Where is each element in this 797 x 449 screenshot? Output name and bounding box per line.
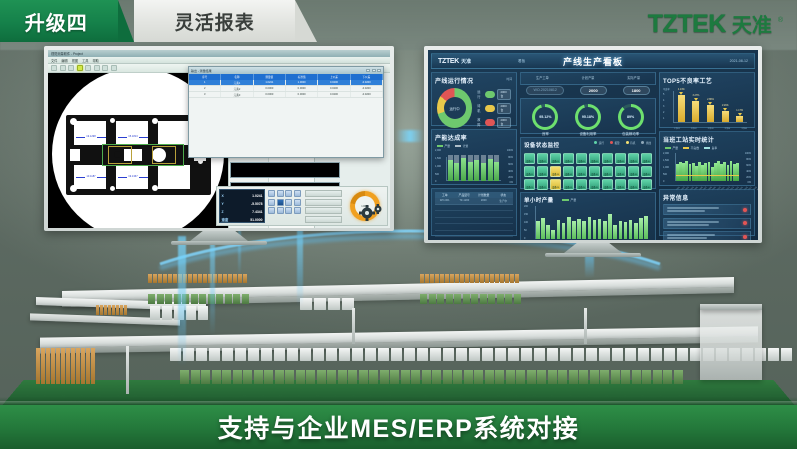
equipment-cell[interactable]: 设备30 xyxy=(641,179,652,190)
caption-banner: 支持与企业MES/ERP系统对接 xyxy=(0,405,797,449)
legend-label: 产量 xyxy=(571,198,577,202)
part-pocket xyxy=(116,121,148,145)
legend-swatch-fault xyxy=(485,119,496,126)
preview-strip-top xyxy=(230,162,340,178)
menu-view[interactable]: 视图 xyxy=(72,58,78,63)
kpi-workorder-value: WO-20210812 xyxy=(526,86,563,95)
bar-value-label: 2.86% xyxy=(707,98,714,101)
equipment-grid: 设备01 设备02 设备03 设备04 设备05 设备06 设备07 设备08 … xyxy=(524,151,652,190)
bar-group xyxy=(461,155,466,181)
menu-tools[interactable]: 工具 xyxy=(82,58,88,63)
part-pocket xyxy=(158,165,190,189)
left-monitor: 视觉测量软件 - Project 文件 编辑 视图 工具 帮助 xyxy=(44,46,394,245)
text-line xyxy=(667,207,719,209)
legend-entry-defect: 不良数 xyxy=(683,146,699,150)
marker-icon xyxy=(679,92,683,95)
cell: 1 xyxy=(189,80,221,85)
gauge-ring: 89% xyxy=(618,104,644,130)
bar: 3.27% xyxy=(692,101,699,122)
y-tick: 0 xyxy=(663,180,664,183)
part-hole xyxy=(110,186,115,191)
legend-dot xyxy=(641,141,644,144)
legend-entry-alarm: 报警 xyxy=(610,141,620,145)
menu-edit[interactable]: 编辑 xyxy=(61,58,67,63)
marker-icon xyxy=(738,113,742,116)
bar-group xyxy=(488,155,493,181)
line-status-title: 产线运行情况 xyxy=(435,76,513,85)
jog-settings-icon[interactable] xyxy=(294,190,301,197)
equipment-cell[interactable]: 设备19 xyxy=(628,166,639,177)
lower-machine-row xyxy=(180,370,683,384)
equipment-cell[interactable]: 设备20 xyxy=(641,166,652,177)
table-row[interactable]: 3 元素3 0.0000 0.0000 0.0200 -0.0200 xyxy=(189,92,383,98)
legend-swatch-run xyxy=(485,91,496,98)
equipment-cell[interactable]: 设备21 xyxy=(524,179,535,190)
right-monitor-stand xyxy=(564,243,622,253)
dashboard-left-tab[interactable]: 看板 xyxy=(518,59,525,64)
left-monitor-bezel: 视觉测量软件 - Project 文件 编辑 视图 工具 帮助 xyxy=(44,46,394,231)
coordinate-row: X 1.0241 xyxy=(222,192,263,200)
equipment-cell[interactable]: 设备12 xyxy=(537,166,548,177)
y-tick-right: 0% xyxy=(510,181,513,184)
alarm-status-dot xyxy=(743,235,747,239)
menu-help[interactable]: 帮助 xyxy=(93,58,99,63)
x-tick: 工序02 xyxy=(691,127,697,130)
legend-count: 2000台 xyxy=(497,89,511,100)
legend-label: 待机 xyxy=(630,141,635,145)
brand-registered-mark: ® xyxy=(778,17,783,24)
support-column xyxy=(126,346,129,394)
coordinate-row: 速度 51.0000 xyxy=(222,216,263,224)
roi-subregion[interactable] xyxy=(152,146,176,164)
vision-software-screen: 视觉测量软件 - Project 文件 编辑 视图 工具 帮助 xyxy=(48,50,390,228)
dashboard-datetime: 2021-08-12 xyxy=(730,59,748,63)
gauges-card: 95.12% 良率 95.18% 设备利用率 xyxy=(520,98,656,134)
quick-action-buttons xyxy=(305,189,342,223)
axis-value: 51.0000 xyxy=(250,218,262,222)
top5-title: TOP5不良率工艺 xyxy=(663,76,751,85)
cell: 0.0200 xyxy=(318,80,350,85)
legend-entry-actual: 产量 xyxy=(437,144,450,148)
bar: 4.13% xyxy=(678,95,685,122)
dashboard-title: 产线生产看板 xyxy=(432,55,754,68)
text-line xyxy=(667,221,719,223)
equipment-cell[interactable]: 设备22 xyxy=(537,179,548,190)
bar xyxy=(541,218,545,239)
bar xyxy=(624,222,628,239)
text-line xyxy=(667,210,705,212)
equipment-cell[interactable]: 设备24 xyxy=(563,179,574,190)
jog-down-right-icon[interactable] xyxy=(285,207,292,214)
dashboard-logo-cn: 天准 xyxy=(461,58,471,65)
equipment-cell[interactable]: 设备17 xyxy=(602,166,613,177)
legend-swatch xyxy=(683,147,689,150)
y-tick: 150 xyxy=(524,213,528,216)
cell: 1.0000 xyxy=(286,80,318,85)
cell: 2 xyxy=(189,86,221,91)
legend-label: 产量 xyxy=(445,144,451,148)
y-tick: 2 xyxy=(663,111,664,114)
gauge-value: 95.18% xyxy=(578,107,598,127)
jog-home-icon[interactable] xyxy=(277,199,284,206)
capacity-title: 产能达成率 xyxy=(435,133,513,142)
coordinate-row: Y -5.5078 xyxy=(222,200,263,208)
bar xyxy=(593,220,597,239)
dashboard-header: TZTEK 天准 看板 产线生产看板 2021-08-12 xyxy=(431,53,755,69)
legend-row: 运行 2000台 xyxy=(477,89,511,100)
top5-y-label: 不良率 xyxy=(663,87,670,91)
jog-right-icon[interactable] xyxy=(285,199,292,206)
equipment-cell[interactable]: 设备02 xyxy=(537,153,548,164)
equipment-cell[interactable]: 设备10 xyxy=(641,153,652,164)
y-tick: 2,000 xyxy=(435,149,441,152)
cursor-icon[interactable] xyxy=(51,65,57,71)
bar xyxy=(639,218,643,239)
vision-app-title: 视觉测量软件 - Project xyxy=(51,51,83,56)
y-tick-right: 20% xyxy=(508,176,513,179)
y-tick-right: 80% xyxy=(508,156,513,159)
exception-row[interactable] xyxy=(663,218,751,229)
factory-right-wing-top xyxy=(700,304,762,310)
top5-chart: 不良率 5 4 3 2 1 4.13% 3.27% xyxy=(663,87,751,131)
legend-label: 计划 xyxy=(463,144,469,148)
hourly-bars xyxy=(536,213,648,239)
legend-row: 待机 2000台 xyxy=(477,103,511,114)
roi-subregion[interactable] xyxy=(108,146,132,164)
dashboard-right-column: TOP5不良率工艺 不良率 5 4 3 2 1 xyxy=(659,72,755,236)
exception-text xyxy=(667,207,719,212)
bar xyxy=(551,230,555,239)
legend-row: 故障 2000台 xyxy=(477,117,511,128)
y-tick: 1,500 xyxy=(435,157,441,160)
y-tick-right: 60% xyxy=(508,163,513,166)
gauges-row: 95.12% 良率 95.18% 设备利用率 xyxy=(524,102,652,138)
jog-up-right-icon[interactable] xyxy=(285,190,292,197)
y-tick: 1,000 xyxy=(435,165,441,168)
equipment-cell[interactable]: 设备23 xyxy=(550,179,561,190)
part-hole xyxy=(110,118,115,123)
legend-count: 2000台 xyxy=(497,103,511,114)
kpi-workorder: 生产工单 xyxy=(536,75,549,82)
y-tick: 500 xyxy=(663,173,667,176)
station-chart: 2,000 1,500 1,000 500 0 100% 80% 60% 40%… xyxy=(663,151,751,191)
bar xyxy=(619,221,623,239)
station-bars xyxy=(676,161,739,181)
part-hole xyxy=(152,118,158,124)
y-tick-right: 80% xyxy=(746,158,751,161)
legend-swatch xyxy=(704,147,710,150)
equipment-cell[interactable]: 设备04 xyxy=(563,153,574,164)
equipment-cell[interactable]: 设备16 xyxy=(589,166,600,177)
table-row[interactable] xyxy=(435,231,513,238)
equipment-cell[interactable]: 设备08 xyxy=(615,153,626,164)
hourly-chart: 200 150 100 50 0 xyxy=(524,204,652,241)
action-button-2[interactable] xyxy=(305,199,342,206)
dimension-value: 19.1367 xyxy=(127,175,138,178)
factory-data-beam xyxy=(210,236,215,336)
y-tick: 50 xyxy=(524,229,527,232)
header-section: 灵活报表 xyxy=(134,0,295,42)
brand-logo-en: TZTEK xyxy=(648,10,726,39)
legend-swatch xyxy=(562,199,569,201)
y-tick: 1,000 xyxy=(663,166,669,169)
alarm-status-dot xyxy=(743,208,747,212)
bar-group xyxy=(468,155,473,181)
cell: 0.0000 xyxy=(286,86,318,91)
bar-group xyxy=(481,155,486,181)
part-hole xyxy=(70,185,77,192)
equipment-cell[interactable]: 设备28 xyxy=(615,179,626,190)
line-status-content: 运行中 运行 2000台 待机 xyxy=(435,87,513,129)
window-controls xyxy=(366,69,381,73)
axis-label: Y xyxy=(222,202,224,206)
action-button-1[interactable] xyxy=(305,190,342,197)
dimension-line: 19.1367 xyxy=(118,177,148,178)
brand-logo: TZTEK 天准 ® xyxy=(648,9,783,39)
axis-value: 7.4341 xyxy=(252,210,262,214)
bar xyxy=(536,221,540,239)
text-line xyxy=(667,224,709,226)
dimension-line: 19.1298 xyxy=(76,137,106,138)
bar xyxy=(588,217,592,239)
cell: 元素2 xyxy=(221,86,253,91)
equipment-cell[interactable]: 设备06 xyxy=(589,153,600,164)
legend-label: 离线 xyxy=(646,141,651,145)
legend-entry-output: 产量 xyxy=(665,146,678,150)
dimension-line: 13.1187 xyxy=(76,177,106,178)
bar-value-label: 3.27% xyxy=(693,94,700,97)
legend-entry-idle: 待机 xyxy=(626,141,636,145)
equipment-cell[interactable]: 设备18 xyxy=(615,166,626,177)
maximize-icon[interactable] xyxy=(372,69,376,73)
bar xyxy=(557,220,561,239)
cell: WO-001 xyxy=(435,198,455,204)
legend-dot xyxy=(610,141,613,144)
gear-icon xyxy=(356,202,386,224)
bar xyxy=(577,219,581,239)
equipment-cell[interactable]: 设备27 xyxy=(602,179,613,190)
equipment-legend: 运行 报警 待机 离线 xyxy=(594,141,651,145)
x-tick: 工序03 xyxy=(708,127,714,130)
legend-label: 不良数 xyxy=(691,146,699,150)
gauge-utilization: 95.18% 设备利用率 xyxy=(575,104,601,137)
top5-bars: 4.13% 3.27% 2.86% 1.93% 1.17% xyxy=(674,97,747,122)
part-hole xyxy=(70,118,77,125)
kpi-actual: 实际产量 xyxy=(627,75,640,82)
dimension-value: 15.1813 xyxy=(127,135,138,138)
right-monitor-base xyxy=(545,253,641,257)
kpi-actual-value: 1800 xyxy=(623,86,650,95)
support-column xyxy=(584,308,587,344)
header-tag-label: 升级四 xyxy=(25,7,88,36)
marker-icon xyxy=(694,98,698,101)
bar xyxy=(598,219,602,239)
zoom-icon[interactable] xyxy=(60,65,66,71)
axis-label: Z xyxy=(222,210,224,214)
settings-icon[interactable] xyxy=(111,65,117,71)
bar-group xyxy=(454,155,459,181)
jog-up-left-icon[interactable] xyxy=(268,190,275,197)
factory-data-beam xyxy=(178,236,186,366)
mid-equipment-row-2 xyxy=(170,348,792,361)
jog-up-icon[interactable] xyxy=(277,190,284,197)
cell: -0.0200 xyxy=(351,86,383,91)
part-hole xyxy=(198,159,203,164)
legend-entry-run: 运行 xyxy=(594,141,604,145)
bar-group xyxy=(474,155,479,181)
equipment-cell[interactable]: 设备14 xyxy=(563,166,574,177)
gauge-ring: 95.12% xyxy=(532,104,558,130)
result-window-titlebar: 输出 - 测量结果 xyxy=(189,67,383,74)
material-rack xyxy=(96,305,127,315)
legend-dot xyxy=(594,141,597,144)
equipment-cell[interactable]: 设备01 xyxy=(524,153,535,164)
bar xyxy=(644,216,648,239)
result-window-title: 输出 - 测量结果 xyxy=(191,69,212,73)
gauge-label: 良率 xyxy=(532,131,558,136)
bar-value-label: 4.13% xyxy=(678,88,685,91)
bar-group xyxy=(448,155,453,181)
legend-count: 2000台 xyxy=(497,117,511,128)
gauge-label: 包装稼动率 xyxy=(618,131,644,136)
gauge-label: 设备利用率 xyxy=(575,131,601,136)
dashboard-left-column: 产线运行情况 时间 运行中 运行 2000台 xyxy=(431,72,517,236)
hourly-legend: 产量 xyxy=(562,198,577,202)
exception-row[interactable] xyxy=(663,231,751,240)
bar xyxy=(582,221,586,239)
equipment-cell[interactable]: 设备13 xyxy=(550,166,561,177)
y-tick: 1,500 xyxy=(663,159,669,162)
dashboard-logo-en: TZTEK xyxy=(438,58,459,65)
y-tick: 200 xyxy=(524,205,528,208)
equipment-cell[interactable]: 设备15 xyxy=(576,166,587,177)
cell: 3 xyxy=(189,92,221,97)
equipment-cell[interactable]: 设备11 xyxy=(524,166,535,177)
equipment-cell[interactable]: 设备03 xyxy=(550,153,561,164)
jog-left-icon[interactable] xyxy=(268,199,275,206)
production-dashboard: TZTEK 天准 看板 产线生产看板 2021-08-12 产线运行情况 时间 xyxy=(428,50,758,240)
y-tick: 2,000 xyxy=(663,152,669,155)
vision-menubar: 文件 编辑 视图 工具 帮助 xyxy=(48,57,390,64)
cell: 0.0000 xyxy=(254,92,286,97)
jog-pad[interactable] xyxy=(268,189,302,223)
bar: 1.93% xyxy=(722,111,729,122)
donut-center-label: 运行中 xyxy=(444,97,466,119)
cell: -0.0200 xyxy=(351,80,383,85)
action-button-4[interactable] xyxy=(305,216,342,223)
kpi-values-row: WO-20210812 2000 1800 xyxy=(520,86,656,95)
circle-tool-icon[interactable] xyxy=(94,65,100,71)
y-tick: 0 xyxy=(435,180,436,183)
line-status-legend: 运行 2000台 待机 2000台 xyxy=(477,89,511,128)
jog-down-icon[interactable] xyxy=(277,207,284,214)
header-section-label: 灵活报表 xyxy=(175,8,255,35)
upper-equipment-row xyxy=(300,298,354,310)
measurement-result-window[interactable]: 输出 - 测量结果 序号 名称 测量值 标准值 上公差 下公差 1 xyxy=(188,66,384,158)
legend-swatch xyxy=(437,145,443,148)
axis-label: 速度 xyxy=(222,217,229,222)
line-status-time-header: 时间 xyxy=(506,77,512,81)
legend-label: 运行 xyxy=(599,141,604,145)
kpi-row: 生产工单 计划产量 实际产量 xyxy=(521,73,655,84)
bar xyxy=(603,221,607,239)
header-banner: 升级四 灵活报表 xyxy=(0,0,295,42)
gauge-ring: 95.18% xyxy=(575,104,601,130)
save-icon[interactable] xyxy=(102,65,108,71)
station-legend: 产量 不良数 良率 xyxy=(663,146,751,150)
equipment-cell[interactable]: 设备05 xyxy=(576,153,587,164)
bar: 1.17% xyxy=(736,116,743,122)
equipment-cell[interactable]: 设备29 xyxy=(628,179,639,190)
alarm-status-dot xyxy=(743,221,747,225)
part-hole xyxy=(152,185,158,191)
equipment-cell[interactable]: 设备25 xyxy=(576,179,587,190)
cell: 元素3 xyxy=(221,92,253,97)
exception-row[interactable] xyxy=(663,204,751,215)
axis-value: -5.5078 xyxy=(251,202,263,206)
dimension-value: 19.1298 xyxy=(85,135,96,138)
jog-play-icon[interactable] xyxy=(294,199,301,206)
equipment-cell[interactable]: 设备09 xyxy=(628,153,639,164)
cell: 0.0200 xyxy=(318,86,350,91)
gauge-packaging: 89% 包装稼动率 xyxy=(618,104,644,137)
brand-logo-cn: 天准 xyxy=(732,9,772,38)
order-table-card: 工单 产品型号 计划数量 状态 WO-001 TZ-1200 2000 生产中 xyxy=(431,188,517,236)
material-stack xyxy=(36,348,95,384)
capacity-card: 产能达成率 产量 计划 2,000 1,500 1,000 500 0 xyxy=(431,129,517,185)
dimension-line: 15.1813 xyxy=(118,137,148,138)
equipment-cell[interactable]: 设备26 xyxy=(589,179,600,190)
cell: 0.0200 xyxy=(318,92,350,97)
x-tick: 工序05 xyxy=(741,127,747,130)
menu-file[interactable]: 文件 xyxy=(51,58,57,63)
measure-icon[interactable] xyxy=(77,65,83,71)
legend-label: 待机 xyxy=(477,103,482,113)
marker-icon xyxy=(723,108,727,111)
header-tag: 升级四 xyxy=(0,0,118,42)
legend-entry-yield: 良率 xyxy=(704,146,717,150)
part-pocket xyxy=(158,121,190,145)
pan-icon[interactable] xyxy=(68,65,74,71)
line-tool-icon[interactable] xyxy=(85,65,91,71)
station-yield-line xyxy=(676,175,739,176)
minimize-icon[interactable] xyxy=(366,69,370,73)
cell: 0.0000 xyxy=(286,92,318,97)
action-button-3[interactable] xyxy=(305,207,342,214)
gauge-value: 89% xyxy=(621,107,641,127)
cell: TZ-1200 xyxy=(455,198,475,204)
dashboard-center-column: 生产工单 计划产量 实际产量 WO-202108 xyxy=(520,72,656,236)
jog-down-left-icon[interactable] xyxy=(268,207,275,214)
kpi-label: 实际产量 xyxy=(627,75,640,80)
y-tick: 3 xyxy=(663,105,664,108)
upper-machine-row xyxy=(148,294,249,304)
jog-speed-icon[interactable] xyxy=(294,207,301,214)
dashboard-screen: TZTEK 天准 看板 产线生产看板 2021-08-12 产线运行情况 时间 xyxy=(428,50,758,240)
cell: 1.0241 xyxy=(254,80,286,85)
y-tick-right: 20% xyxy=(746,176,751,179)
marker-icon xyxy=(708,102,712,105)
bar xyxy=(736,163,739,181)
y-tick: 4 xyxy=(663,99,664,102)
legend-label: 良率 xyxy=(712,146,718,150)
y-tick-right: 0% xyxy=(748,181,751,184)
bar xyxy=(567,217,571,239)
close-icon[interactable] xyxy=(377,69,381,73)
y-tick: 1 xyxy=(663,117,664,120)
equipment-cell[interactable]: 设备07 xyxy=(602,153,613,164)
y-tick: 0 xyxy=(524,237,525,240)
